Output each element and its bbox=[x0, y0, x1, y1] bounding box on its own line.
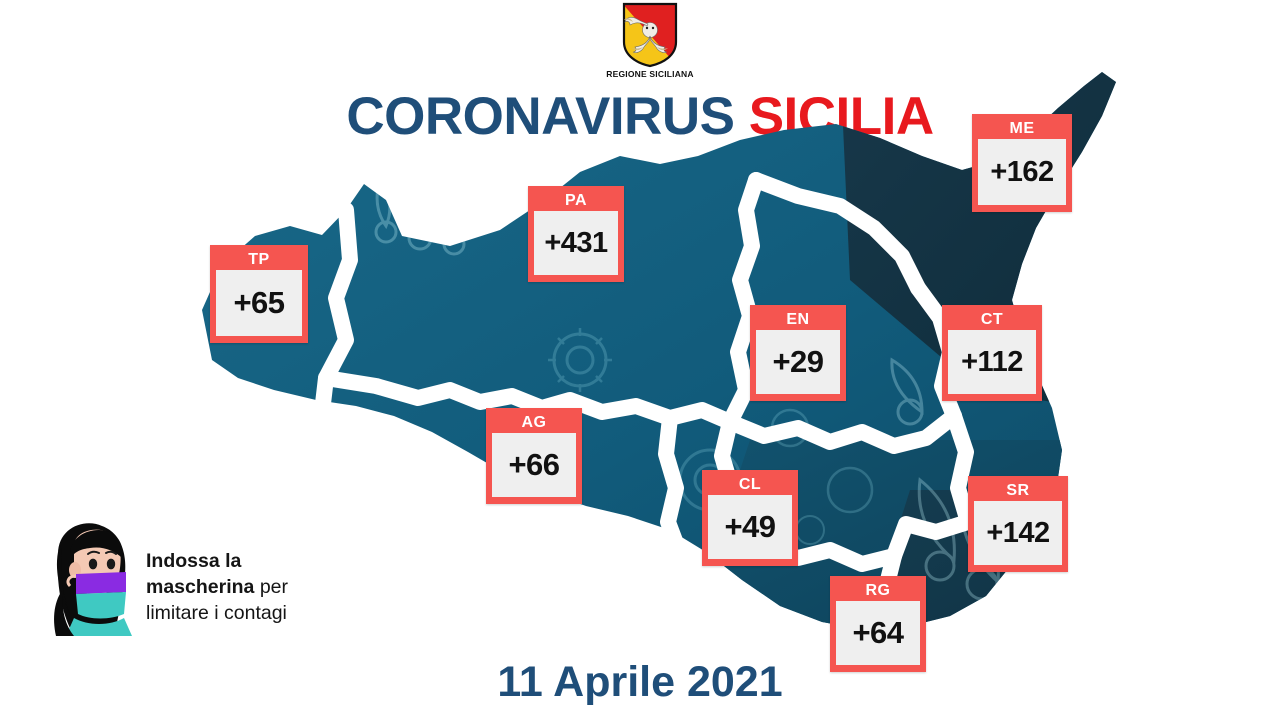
province-code: CT bbox=[948, 310, 1036, 330]
province-card-en: EN+29 bbox=[750, 305, 846, 401]
province-code: CL bbox=[708, 475, 792, 495]
mask-line-3: limitare i contagi bbox=[146, 602, 287, 624]
province-card-ct: CT+112 bbox=[942, 305, 1042, 401]
mask-reminder: Indossa la mascherina per limitare i con… bbox=[34, 518, 344, 638]
sicilian-region-shield-icon bbox=[621, 2, 679, 68]
province-value: +66 bbox=[492, 433, 576, 497]
province-value: +112 bbox=[948, 330, 1036, 394]
province-card-pa: PA+431 bbox=[528, 186, 624, 282]
province-card-rg: RG+64 bbox=[830, 576, 926, 672]
mask-line-2-regular: per bbox=[254, 576, 288, 598]
province-value: +162 bbox=[978, 139, 1066, 205]
province-code: TP bbox=[216, 250, 302, 270]
infographic-root: REGIONE SICILIANA CORONAVIRUS SICILIA bbox=[0, 0, 1280, 720]
report-date: 11 Aprile 2021 bbox=[0, 661, 1280, 704]
mask-line-1: Indossa la bbox=[146, 550, 241, 572]
province-card-me: ME+162 bbox=[972, 114, 1072, 212]
province-code: EN bbox=[756, 310, 840, 330]
mask-line-2-bold: mascherina bbox=[146, 576, 254, 598]
province-code: PA bbox=[534, 191, 618, 211]
province-code: RG bbox=[836, 581, 920, 601]
province-value: +142 bbox=[974, 501, 1062, 565]
province-card-ag: AG+66 bbox=[486, 408, 582, 504]
person-wearing-mask-illustration bbox=[40, 518, 144, 636]
province-value: +431 bbox=[534, 211, 618, 275]
province-code: ME bbox=[978, 119, 1066, 139]
province-card-cl: CL+49 bbox=[702, 470, 798, 566]
province-value: +64 bbox=[836, 601, 920, 665]
province-card-sr: SR+142 bbox=[968, 476, 1068, 572]
province-code: AG bbox=[492, 413, 576, 433]
province-value: +65 bbox=[216, 270, 302, 336]
province-value: +29 bbox=[756, 330, 840, 394]
mask-reminder-text: Indossa la mascherina per limitare i con… bbox=[146, 548, 346, 626]
province-code: SR bbox=[974, 481, 1062, 501]
province-card-tp: TP+65 bbox=[210, 245, 308, 343]
province-value: +49 bbox=[708, 495, 792, 559]
